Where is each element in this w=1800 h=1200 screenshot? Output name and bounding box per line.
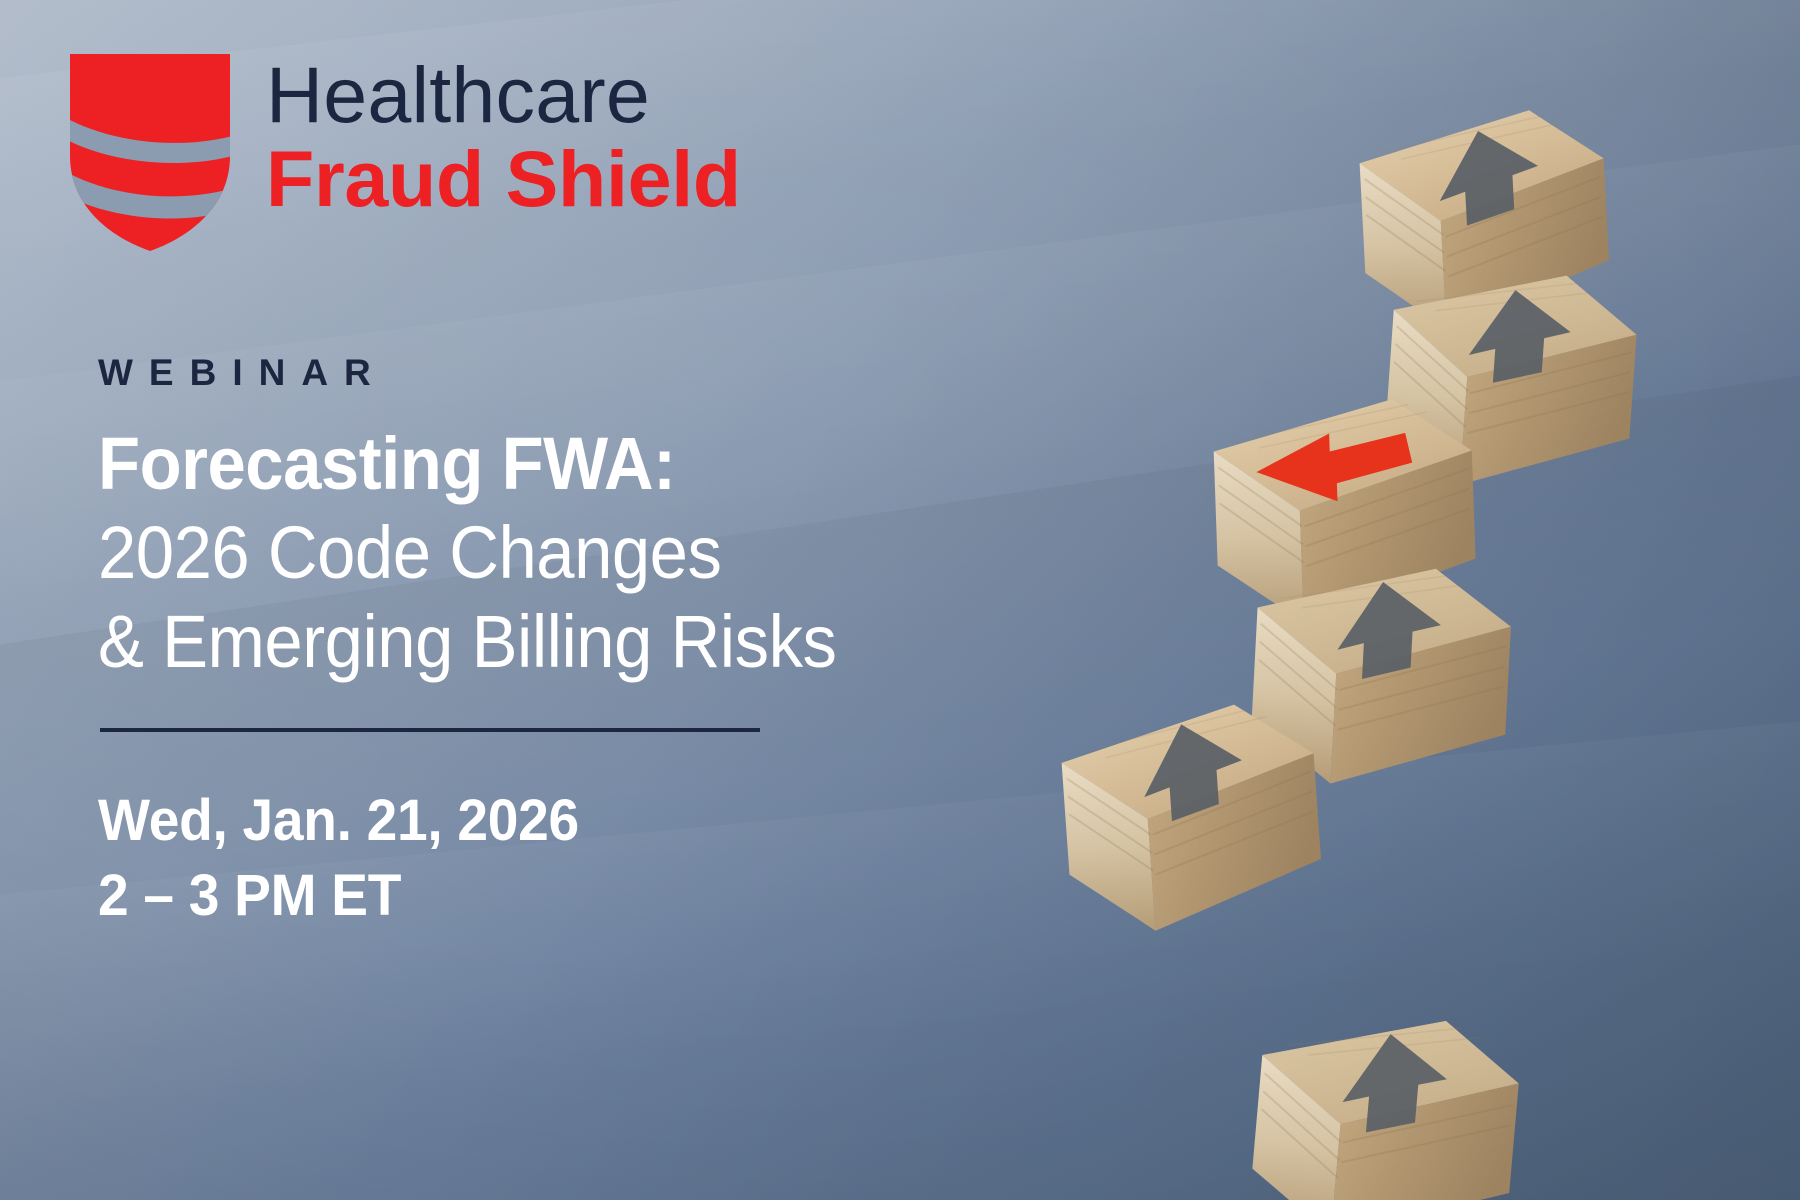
arrow-up-icon <box>1336 580 1443 683</box>
content-block: WEBINAR Forecasting FWA: 2026 Code Chang… <box>98 352 1098 933</box>
wood-block-arrow-up-2 <box>1366 243 1653 521</box>
shield-icon <box>66 48 234 253</box>
title-line-3: & Emerging Billing Risks <box>98 598 1028 687</box>
page-title: Forecasting FWA: 2026 Code Changes & Eme… <box>98 420 1098 686</box>
eyebrow-label: WEBINAR <box>98 352 1098 394</box>
arrow-left-icon <box>1255 431 1413 504</box>
brand-logo: Healthcare Fraud Shield <box>66 48 826 258</box>
event-time: 2 – 3 PM ET <box>98 859 1048 933</box>
arrow-up-icon <box>1139 720 1245 823</box>
arrow-up-icon <box>1467 287 1573 388</box>
wood-block-arrow-up-3 <box>1231 541 1529 818</box>
divider <box>100 728 760 732</box>
brand-name-healthcare: Healthcare <box>266 56 741 134</box>
promo-banner: Healthcare Fraud Shield WEBINAR Forecast… <box>0 0 1800 1200</box>
event-date: Wed, Jan. 21, 2026 <box>98 784 1048 858</box>
brand-name-fraud-shield: Fraud Shield <box>266 138 741 219</box>
title-line-1: Forecasting FWA: <box>98 420 1028 509</box>
wood-block-arrow-up-1 <box>1338 88 1621 362</box>
wood-block-arrow-left <box>1195 378 1494 653</box>
brand-wordmark: Healthcare Fraud Shield <box>266 56 741 220</box>
title-line-2: 2026 Code Changes <box>98 509 1028 598</box>
arrow-up-icon <box>1340 1030 1450 1139</box>
arrow-up-icon <box>1436 128 1541 227</box>
event-schedule: Wed, Jan. 21, 2026 2 – 3 PM ET <box>98 784 1098 932</box>
wood-block-arrow-up-5 <box>1229 988 1541 1200</box>
